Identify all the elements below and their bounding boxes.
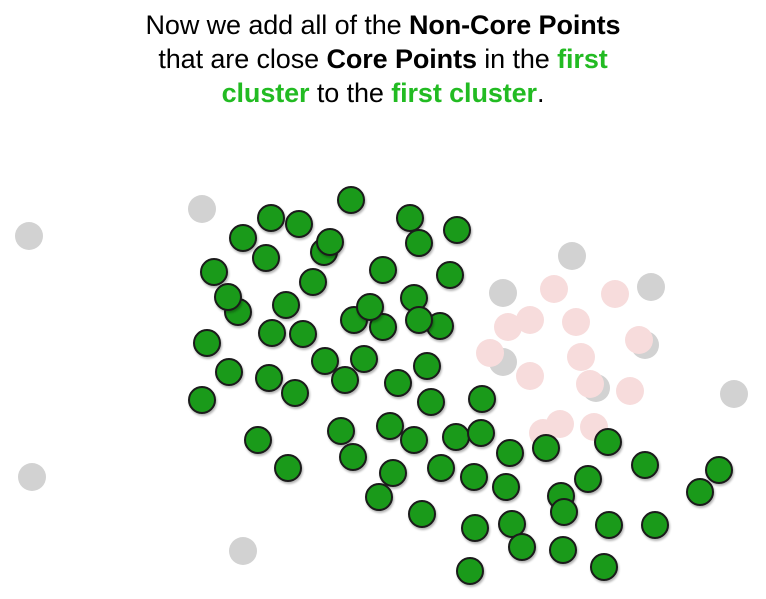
caption-text: Now we add all of the Non-Core Points th… (0, 8, 766, 110)
data-point-core (384, 369, 412, 397)
data-point-core (574, 465, 602, 493)
data-point-core (443, 216, 471, 244)
caption-line2-plain-a: that are close (158, 44, 326, 74)
data-point-other (494, 313, 522, 341)
data-point-core (400, 426, 428, 454)
caption-line3-green-b: first cluster (391, 78, 537, 108)
data-point-other (576, 370, 604, 398)
caption-line-1: Now we add all of the Non-Core Points (0, 8, 766, 42)
data-point-other (616, 377, 644, 405)
data-point-core (365, 483, 393, 511)
data-point-noise (558, 242, 586, 270)
data-point-core (193, 329, 221, 357)
data-point-noise (229, 537, 257, 565)
caption-line1-plain: Now we add all of the (146, 10, 409, 40)
caption-line3-plain: to the (309, 78, 391, 108)
data-point-core (229, 224, 257, 252)
data-point-noise (637, 273, 665, 301)
data-point-other (567, 343, 595, 371)
data-point-noise (720, 380, 748, 408)
data-point-core (214, 283, 242, 311)
data-point-core (337, 186, 365, 214)
data-point-core (408, 500, 436, 528)
data-point-core (492, 473, 520, 501)
data-point-core (508, 533, 536, 561)
caption-line2-green: first (557, 44, 608, 74)
data-point-other (601, 280, 629, 308)
data-point-core (549, 536, 577, 564)
data-point-core (252, 244, 280, 272)
data-point-core (327, 417, 355, 445)
caption-line1-bold: Non-Core Points (409, 10, 621, 40)
data-point-core (316, 228, 344, 256)
data-point-core (467, 419, 495, 447)
data-point-core (257, 204, 285, 232)
data-point-other (476, 339, 504, 367)
caption-line3-green-a: cluster (222, 78, 310, 108)
data-point-core (427, 454, 455, 482)
data-point-core (200, 258, 228, 286)
data-point-core (405, 229, 433, 257)
data-point-core (281, 379, 309, 407)
data-point-core (356, 293, 384, 321)
data-point-core (331, 366, 359, 394)
data-point-core (274, 454, 302, 482)
data-point-core (272, 291, 300, 319)
data-point-core (244, 426, 272, 454)
data-point-core (686, 478, 714, 506)
data-point-core (188, 386, 216, 414)
data-point-core (641, 511, 669, 539)
data-point-core (550, 498, 578, 526)
data-point-core (436, 261, 464, 289)
data-point-core (369, 256, 397, 284)
data-point-core (258, 319, 286, 347)
data-point-core (594, 428, 622, 456)
data-point-core (289, 320, 317, 348)
data-point-other (540, 275, 568, 303)
data-point-noise (489, 279, 517, 307)
data-point-core (705, 456, 733, 484)
data-point-core (461, 514, 489, 542)
data-point-noise (15, 222, 43, 250)
data-point-noise (188, 195, 216, 223)
data-point-core (405, 306, 433, 334)
data-point-core (496, 439, 524, 467)
data-point-other (562, 308, 590, 336)
data-point-noise (18, 463, 46, 491)
data-point-other (516, 362, 544, 390)
data-point-core (413, 352, 441, 380)
data-point-core (468, 385, 496, 413)
data-point-core (215, 358, 243, 386)
caption-line-3: cluster to the first cluster. (0, 76, 766, 110)
scatter-plot (0, 140, 766, 599)
data-point-core (631, 451, 659, 479)
data-point-core (456, 557, 484, 585)
caption-line2-plain-b: in the (477, 44, 557, 74)
data-point-core (417, 388, 445, 416)
caption-line3-period: . (537, 78, 544, 108)
caption-line2-bold: Core Points (326, 44, 476, 74)
data-point-core (442, 423, 470, 451)
data-point-core (299, 268, 327, 296)
data-point-core (255, 364, 283, 392)
data-point-core (532, 434, 560, 462)
data-point-core (590, 553, 618, 581)
data-point-core (339, 443, 367, 471)
caption-line-2: that are close Core Points in the first (0, 42, 766, 76)
data-point-other (625, 326, 653, 354)
data-point-core (285, 210, 313, 238)
data-point-core (396, 204, 424, 232)
data-point-core (460, 463, 488, 491)
data-point-core (595, 511, 623, 539)
slide-root: Now we add all of the Non-Core Points th… (0, 0, 766, 599)
